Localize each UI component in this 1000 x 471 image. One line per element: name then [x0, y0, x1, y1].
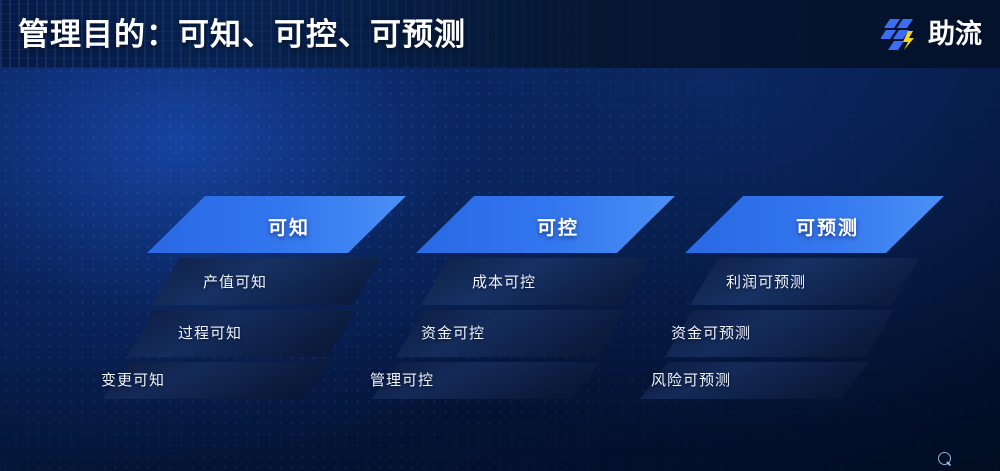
header-cell-col3[interactable]	[685, 196, 944, 253]
row-cell-col2-2[interactable]	[396, 310, 625, 357]
capability-diagram	[0, 0, 1000, 471]
slide-root: 管理目的：可知、可控、可预测 助流	[0, 0, 1000, 471]
row-cell-col1-2[interactable]	[127, 310, 356, 357]
row-cell-col2-3[interactable]	[371, 362, 600, 399]
header-bar: 管理目的：可知、可控、可预测 助流	[0, 0, 1000, 68]
column-ke-yu-ce	[640, 196, 944, 399]
header-cell-col2[interactable]	[416, 196, 675, 253]
row-cell-col3-1[interactable]	[690, 258, 919, 305]
column-ke-zhi	[102, 196, 406, 399]
row-cell-col3-3[interactable]	[640, 362, 869, 399]
page-title: 管理目的：可知、可控、可预测	[18, 9, 466, 54]
zhuliu-bolt-logo-icon	[881, 17, 921, 51]
column-ke-kong	[371, 196, 675, 399]
row-cell-col1-3[interactable]	[102, 362, 331, 399]
row-cell-col3-2[interactable]	[665, 310, 894, 357]
logo-wordmark: 助流	[928, 21, 982, 48]
cursor-pointer-icon	[938, 452, 951, 465]
row-cell-col2-1[interactable]	[421, 258, 650, 305]
brand-logo: 助流	[881, 14, 982, 54]
header-cell-col1[interactable]	[147, 196, 406, 253]
row-cell-col1-1[interactable]	[152, 258, 381, 305]
